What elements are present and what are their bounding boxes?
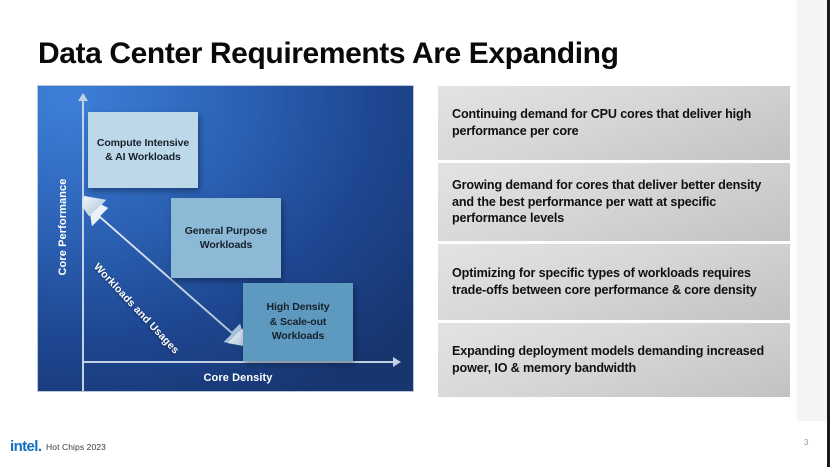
workload-quadrant-diagram: Core Performance Core Density Compute In…: [38, 86, 413, 391]
y-axis-label: Core Performance: [57, 167, 69, 287]
page-edge-strip: [797, 0, 827, 421]
intel-logo: intel.: [10, 438, 41, 455]
requirement-panel: Continuing demand for CPU cores that del…: [438, 86, 790, 160]
intel-logo-dot: .: [38, 438, 42, 455]
page-number: 3: [804, 438, 808, 447]
requirements-panel-list: Continuing demand for CPU cores that del…: [438, 86, 790, 400]
requirement-panel: Optimizing for specific types of workloa…: [438, 244, 790, 320]
x-axis-label: Core Density: [82, 372, 394, 384]
y-axis-arrow-icon: [82, 100, 84, 391]
requirement-panel: Expanding deployment models demanding in…: [438, 323, 790, 397]
requirement-panel: Growing demand for cores that deliver be…: [438, 163, 790, 241]
footer-event-note: Hot Chips 2023: [46, 442, 106, 452]
intel-logo-text: intel: [10, 438, 38, 455]
workload-box-compute-intensive: Compute Intensive & AI Workloads: [88, 112, 198, 188]
page-title: Data Center Requirements Are Expanding: [38, 36, 758, 71]
x-axis-arrow-icon: [82, 361, 394, 363]
workload-box-high-density: High Density & Scale-out Workloads: [243, 283, 353, 361]
arrow-label: Workloads and Usages: [91, 261, 181, 356]
workload-box-general-purpose: General Purpose Workloads: [171, 198, 281, 278]
